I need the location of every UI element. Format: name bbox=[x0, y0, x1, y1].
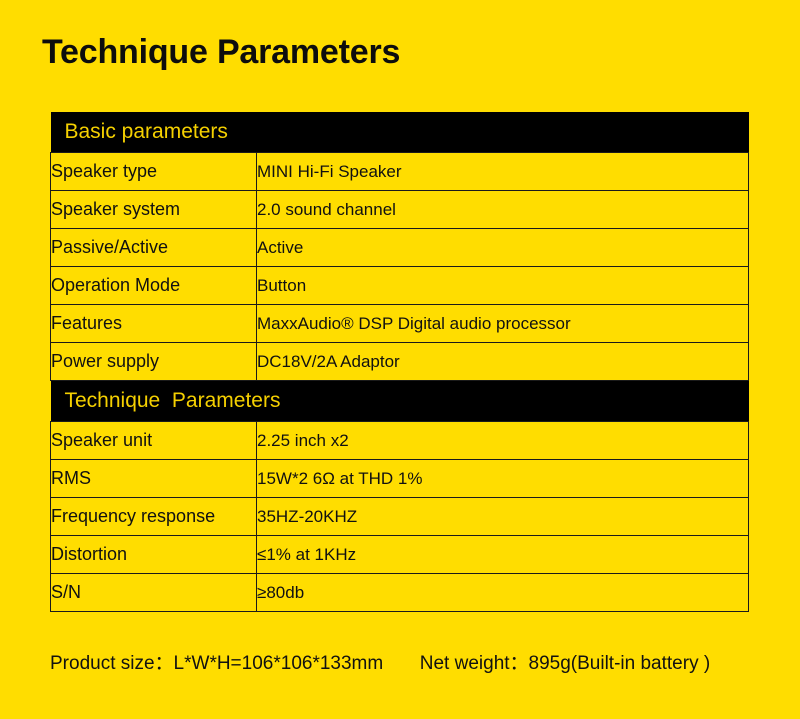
table-row: Frequency response 35HZ-20KHZ bbox=[51, 498, 749, 536]
specifications-table-body: Basic parameters Speaker type MINI Hi-Fi… bbox=[51, 112, 749, 612]
table-row: Speaker type MINI Hi-Fi Speaker bbox=[51, 153, 749, 191]
spec-value: DC18V/2A Adaptor bbox=[257, 343, 749, 381]
spec-value: 2.25 inch x2 bbox=[257, 422, 749, 460]
spec-label: RMS bbox=[51, 460, 257, 498]
section-header-cell: Technique Parameters bbox=[51, 381, 749, 422]
table-row: Power supply DC18V/2A Adaptor bbox=[51, 343, 749, 381]
table-row: Speaker system 2.0 sound channel bbox=[51, 191, 749, 229]
spec-value: MINI Hi-Fi Speaker bbox=[257, 153, 749, 191]
spec-label: Operation Mode bbox=[51, 267, 257, 305]
table-row: Operation Mode Button bbox=[51, 267, 749, 305]
page-title: Technique Parameters bbox=[42, 30, 400, 74]
spec-label: Frequency response bbox=[51, 498, 257, 536]
spec-value: 2.0 sound channel bbox=[257, 191, 749, 229]
table-row: Features MaxxAudio® DSP Digital audio pr… bbox=[51, 305, 749, 343]
spec-label: Features bbox=[51, 305, 257, 343]
section-header-technique-parameters: Technique Parameters bbox=[51, 381, 749, 422]
section-header-label: Technique Parameters bbox=[51, 381, 749, 421]
spec-label: S/N bbox=[51, 574, 257, 612]
spec-label: Speaker type bbox=[51, 153, 257, 191]
section-header-cell: Basic parameters bbox=[51, 112, 749, 153]
footer-product-size: Product size：L*W*H=106*106*133mm bbox=[50, 653, 383, 674]
footer-specs: Product size：L*W*H=106*106*133mm Net wei… bbox=[50, 648, 760, 675]
table-row: Speaker unit 2.25 inch x2 bbox=[51, 422, 749, 460]
table-row: Distortion ≤1% at 1KHz bbox=[51, 536, 749, 574]
spec-value: ≥80db bbox=[257, 574, 749, 612]
table-row: RMS 15W*2 6Ω at THD 1% bbox=[51, 460, 749, 498]
spec-label: Power supply bbox=[51, 343, 257, 381]
spec-value: 15W*2 6Ω at THD 1% bbox=[257, 460, 749, 498]
specifications-table: Basic parameters Speaker type MINI Hi-Fi… bbox=[50, 112, 749, 612]
spec-value: Button bbox=[257, 267, 749, 305]
spec-value: 35HZ-20KHZ bbox=[257, 498, 749, 536]
spec-label: Passive/Active bbox=[51, 229, 257, 267]
table-row: Passive/Active Active bbox=[51, 229, 749, 267]
table-row: S/N ≥80db bbox=[51, 574, 749, 612]
section-header-basic-parameters: Basic parameters bbox=[51, 112, 749, 153]
section-header-label: Basic parameters bbox=[51, 112, 749, 152]
footer-net-weight: Net weight：895g(Built-in battery ) bbox=[420, 653, 710, 674]
spec-label: Speaker unit bbox=[51, 422, 257, 460]
spec-value: MaxxAudio® DSP Digital audio processor bbox=[257, 305, 749, 343]
spec-value: Active bbox=[257, 229, 749, 267]
spec-label: Speaker system bbox=[51, 191, 257, 229]
spec-value: ≤1% at 1KHz bbox=[257, 536, 749, 574]
spec-label: Distortion bbox=[51, 536, 257, 574]
